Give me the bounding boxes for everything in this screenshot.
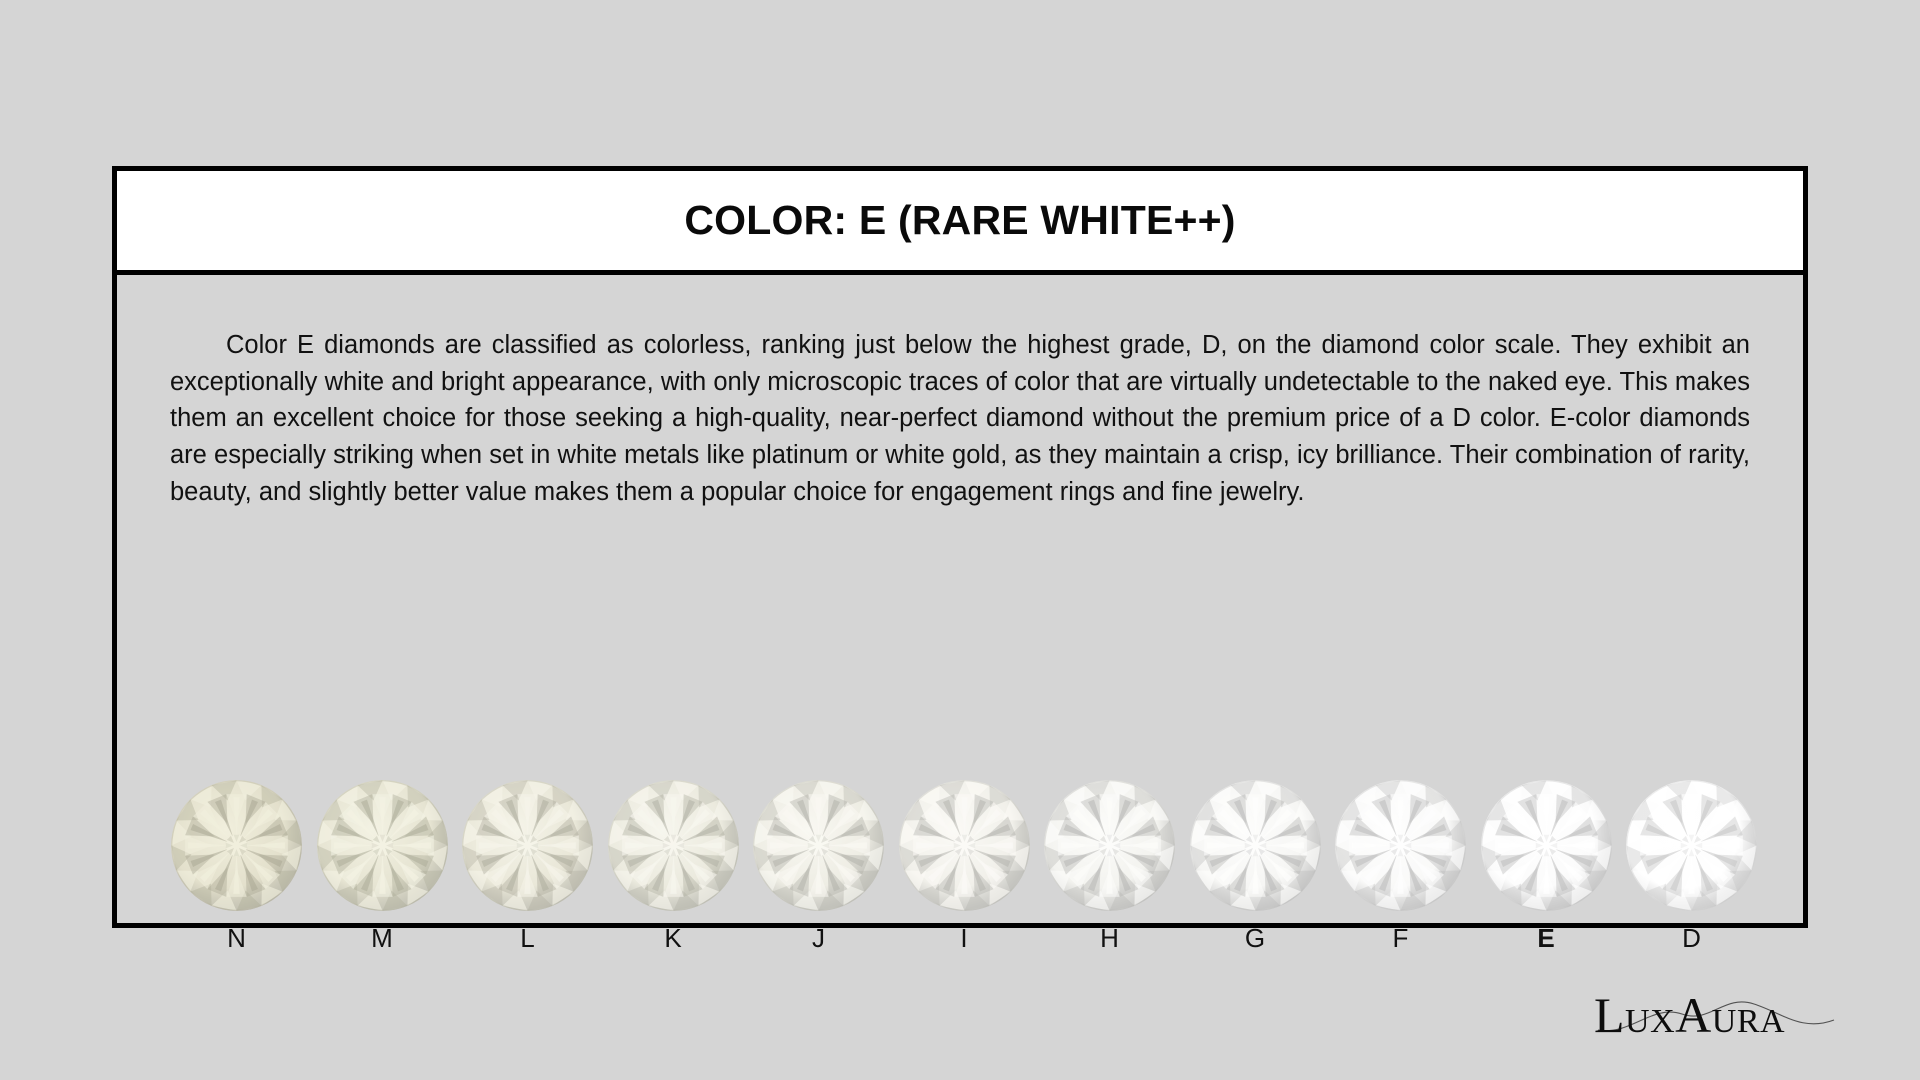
card-body: Color E diamonds are classified as color… [117, 327, 1803, 975]
round-brilliant-diamond-icon [1044, 780, 1175, 911]
grade-label-g: G [1245, 925, 1265, 951]
page-title: COLOR: E (RARE WHITE++) [684, 197, 1235, 244]
round-brilliant-diamond-icon [899, 780, 1030, 911]
grade-label-i: I [960, 925, 967, 951]
grade-label-e: E [1537, 925, 1554, 951]
round-brilliant-diamond-icon [1190, 780, 1321, 911]
diamond-grade-f[interactable]: F [1335, 780, 1466, 951]
diamond-grade-i[interactable]: I [899, 780, 1030, 951]
grade-label-j: J [812, 925, 825, 951]
round-brilliant-diamond-icon [171, 780, 302, 911]
round-brilliant-diamond-icon [1481, 780, 1612, 911]
round-brilliant-diamond-icon [462, 780, 593, 911]
diamond-grade-n[interactable]: N [171, 780, 302, 951]
luxaura-wordmark-logo: LUXAURA [1590, 974, 1840, 1048]
color-grade-card: COLOR: E (RARE WHITE++) Color E diamonds… [112, 166, 1808, 928]
round-brilliant-diamond-icon [1626, 780, 1757, 911]
grade-label-m: M [371, 925, 393, 951]
diamond-grade-d[interactable]: D [1626, 780, 1757, 951]
grade-label-f: F [1393, 925, 1409, 951]
grade-label-d: D [1682, 925, 1701, 951]
card-header: COLOR: E (RARE WHITE++) [117, 171, 1803, 275]
svg-text:LUXAURA: LUXAURA [1594, 987, 1785, 1043]
grade-label-n: N [227, 925, 246, 951]
diamond-grade-k[interactable]: K [608, 780, 739, 951]
diamond-grade-m[interactable]: M [317, 780, 448, 951]
grade-label-h: H [1100, 925, 1119, 951]
diamond-grade-j[interactable]: J [753, 780, 884, 951]
diamond-grade-g[interactable]: G [1190, 780, 1321, 951]
round-brilliant-diamond-icon [753, 780, 884, 911]
description-paragraph: Color E diamonds are classified as color… [170, 327, 1750, 511]
round-brilliant-diamond-icon [608, 780, 739, 911]
grade-label-k: K [664, 925, 681, 951]
round-brilliant-diamond-icon [317, 780, 448, 911]
diamond-color-scale: NMLKJIHGFED [171, 780, 1757, 951]
page-root: COLOR: E (RARE WHITE++) Color E diamonds… [0, 0, 1920, 1080]
round-brilliant-diamond-icon [1335, 780, 1466, 911]
grade-label-l: L [520, 925, 534, 951]
diamond-grade-h[interactable]: H [1044, 780, 1175, 951]
diamond-grade-e[interactable]: E [1481, 780, 1612, 951]
diamond-grade-l[interactable]: L [462, 780, 593, 951]
